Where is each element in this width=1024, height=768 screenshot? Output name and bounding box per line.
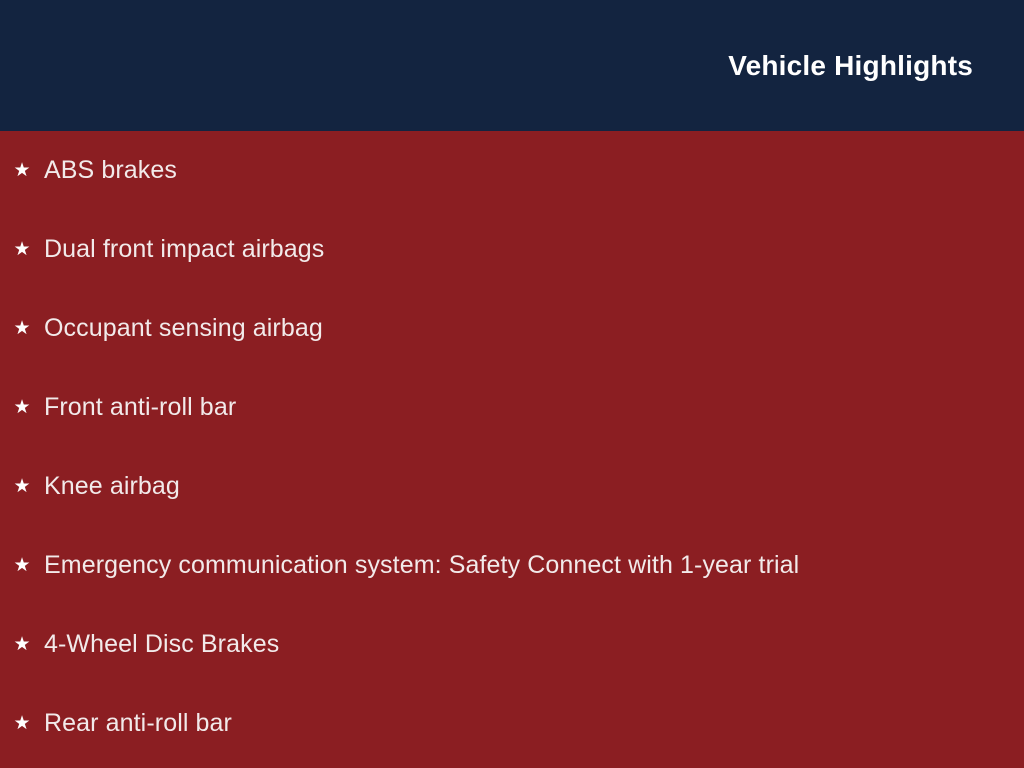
vehicle-highlights-slide: Vehicle Highlights ★ ABS brakes ★ Dual f… xyxy=(0,0,1024,768)
list-item-label: Emergency communication system: Safety C… xyxy=(44,551,799,580)
star-icon: ★ xyxy=(12,319,32,339)
list-item-label: 4-Wheel Disc Brakes xyxy=(44,630,279,659)
list-item-label: Knee airbag xyxy=(44,472,180,501)
header-band: Vehicle Highlights xyxy=(0,0,1024,131)
list-item-label: Rear anti-roll bar xyxy=(44,709,232,738)
star-icon: ★ xyxy=(12,477,32,497)
star-icon: ★ xyxy=(12,635,32,655)
page-title: Vehicle Highlights xyxy=(728,52,973,80)
list-item: ★ 4-Wheel Disc Brakes xyxy=(0,605,1024,684)
list-item: ★ Knee airbag xyxy=(0,447,1024,526)
list-item-label: Occupant sensing airbag xyxy=(44,314,323,343)
star-icon: ★ xyxy=(12,240,32,260)
highlights-list: ★ ABS brakes ★ Dual front impact airbags… xyxy=(0,131,1024,768)
list-item-label: Dual front impact airbags xyxy=(44,235,324,264)
star-icon: ★ xyxy=(12,556,32,576)
star-icon: ★ xyxy=(12,161,32,181)
list-item: ★ Occupant sensing airbag xyxy=(0,289,1024,368)
list-item-label: Front anti-roll bar xyxy=(44,393,236,422)
star-icon: ★ xyxy=(12,398,32,418)
star-icon: ★ xyxy=(12,714,32,734)
list-item: ★ Emergency communication system: Safety… xyxy=(0,526,1024,605)
list-item: ★ ABS brakes xyxy=(0,131,1024,210)
list-item: ★ Front anti-roll bar xyxy=(0,368,1024,447)
list-item: ★ Dual front impact airbags xyxy=(0,210,1024,289)
list-item: ★ Rear anti-roll bar xyxy=(0,684,1024,763)
list-item-label: ABS brakes xyxy=(44,156,177,185)
